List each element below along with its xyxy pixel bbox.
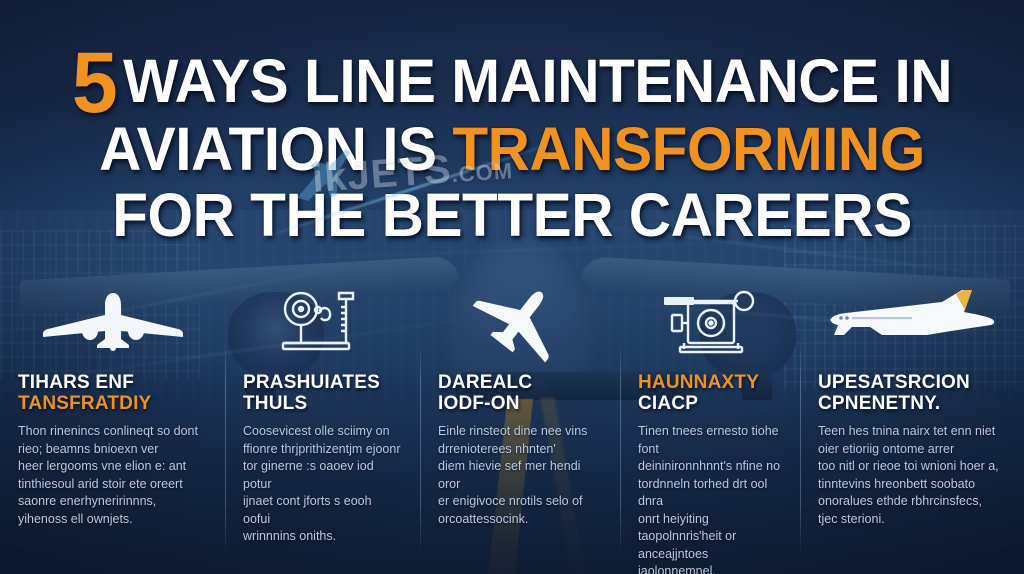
airplane-front-view-icon (18, 282, 207, 358)
feature-heading-2: PRASHUIATES THULS (243, 372, 402, 414)
body-line: Thon rinenincs conlineqt so dont (18, 423, 207, 441)
body-line: Teen hes tnina nairx tet enn niet (818, 423, 1006, 441)
body-line: tor ginerne :s oaoev iod potur (243, 458, 402, 493)
body-line: Coosevicest olle sciimy on (243, 423, 402, 441)
body-line: saonre enerhyneririnnns, (18, 493, 207, 511)
feature-body-2: Coosevicest olle sciimy on ffionre thrjp… (243, 423, 402, 546)
body-line: wrinnnins oniths. (243, 528, 402, 546)
body-line: tinthiesoul arid stoir ete oreert (18, 476, 207, 494)
inspection-machine-icon (638, 282, 782, 358)
body-line: tinntevins hreonbett soobato (818, 476, 1006, 494)
body-line: oier etioriig ontome arrer (818, 441, 1006, 459)
feature-column-4: HAUNNAXTY CIACP Tinen tnees ernesto tioh… (620, 282, 800, 574)
feature-heading-4-line-2: CIACP (638, 393, 782, 414)
body-line: anceajjntoes iaolonnemnel. (638, 546, 782, 574)
body-line: onoralues ethde rbhrcinsfecs, (818, 493, 1006, 511)
headline-block: 5WAYS LINE MAINTENANCE IN AVIATION IS TR… (0, 48, 1024, 248)
feature-body-1: Thon rinenincs conlineqt so dont rieo; b… (18, 423, 207, 528)
feature-heading-3: DAREALC IODF-ON (438, 372, 602, 414)
feature-heading-2-line-2: THULS (243, 393, 402, 414)
body-line: ffionre thrjprithizentjm ejoonr (243, 441, 402, 459)
feature-heading-1-line-1: TIHARS ENF (18, 372, 207, 393)
infographic-canvas: 5WAYS LINE MAINTENANCE IN AVIATION IS TR… (0, 0, 1024, 574)
feature-body-3: Einle rinsteot dine nee vins drreniotere… (438, 423, 602, 528)
body-line: er enigivoce nrotils selo of (438, 493, 602, 511)
feature-heading-5-line-2: CPNENETNY. (818, 393, 1006, 414)
headline-line-3: FOR THE BETTER CAREERS (20, 182, 1003, 248)
body-line: deininironnhnnt's nfine no (638, 458, 782, 476)
body-line: orcoattessocink. (438, 511, 602, 529)
body-line: Einle rinsteot dine nee vins (438, 423, 602, 441)
feature-heading-4: HAUNNAXTY CIACP (638, 372, 782, 414)
feature-column-2: PRASHUIATES THULS Coosevicest olle sciim… (225, 282, 420, 574)
body-line: rieo; beamns bnioexn ver (18, 441, 207, 459)
body-line: drrenioterees nhnten' (438, 441, 602, 459)
feature-heading-3-line-1: DAREALC (438, 372, 602, 393)
feature-column-1: TIHARS ENF TANSFRATDIY Thon rinenincs co… (0, 282, 225, 574)
feature-heading-3-line-2: IODF-ON (438, 393, 602, 414)
airplane-diagonal-icon (438, 282, 602, 358)
feature-heading-5-line-1: UPESATSRCION (818, 372, 1006, 393)
body-line: onrt heiyiting taopolnnris'heit or (638, 511, 782, 546)
feature-heading-1-line-2: TANSFRATDIY (18, 393, 207, 414)
feature-heading-5: UPESATSRCION CPNENETNY. (818, 372, 1006, 414)
airplane-side-view-icon (818, 282, 1006, 358)
feature-body-4: Tinen tnees ernesto tiohe font deininiro… (638, 423, 782, 574)
headline-line-2: AVIATION IS TRANSFORMING (20, 116, 1003, 182)
body-line: diem hievie sef mer hendi oror (438, 458, 602, 493)
body-line: too nitl or rieoe toi wnioni hoer a, (818, 458, 1006, 476)
feature-heading-4-line-1: HAUNNAXTY (638, 372, 782, 393)
feature-heading-2-line-1: PRASHUIATES (243, 372, 402, 393)
body-line: tordnneln torhed drt ool dnra (638, 476, 782, 511)
body-line: yihenoss ell ownjets. (18, 511, 207, 529)
headline-line-2-white: AVIATION IS (99, 115, 436, 183)
headline-line-2-orange: TRANSFORMING (452, 115, 924, 183)
feature-columns: TIHARS ENF TANSFRATDIY Thon rinenincs co… (0, 282, 1024, 574)
feature-heading-1: TIHARS ENF TANSFRATDIY (18, 372, 207, 414)
body-line: tjec sterioni. (818, 511, 1006, 529)
feature-body-5: Teen hes tnina nairx tet enn niet oier e… (818, 423, 1006, 528)
gauge-test-stand-icon (243, 282, 402, 358)
body-line: heer lergooms vne elion e: ant (18, 458, 207, 476)
body-line: Tinen tnees ernesto tiohe font (638, 423, 782, 458)
headline-line-1: 5WAYS LINE MAINTENANCE IN (20, 48, 1003, 116)
body-line: ijnaet cont jforts s eooh oofui (243, 493, 402, 528)
headline-line-1-text: WAYS LINE MAINTENANCE IN (123, 47, 952, 115)
feature-column-5: UPESATSRCION CPNENETNY. Teen hes tnina n… (800, 282, 1024, 574)
feature-column-3: DAREALC IODF-ON Einle rinsteot dine nee … (420, 282, 620, 574)
